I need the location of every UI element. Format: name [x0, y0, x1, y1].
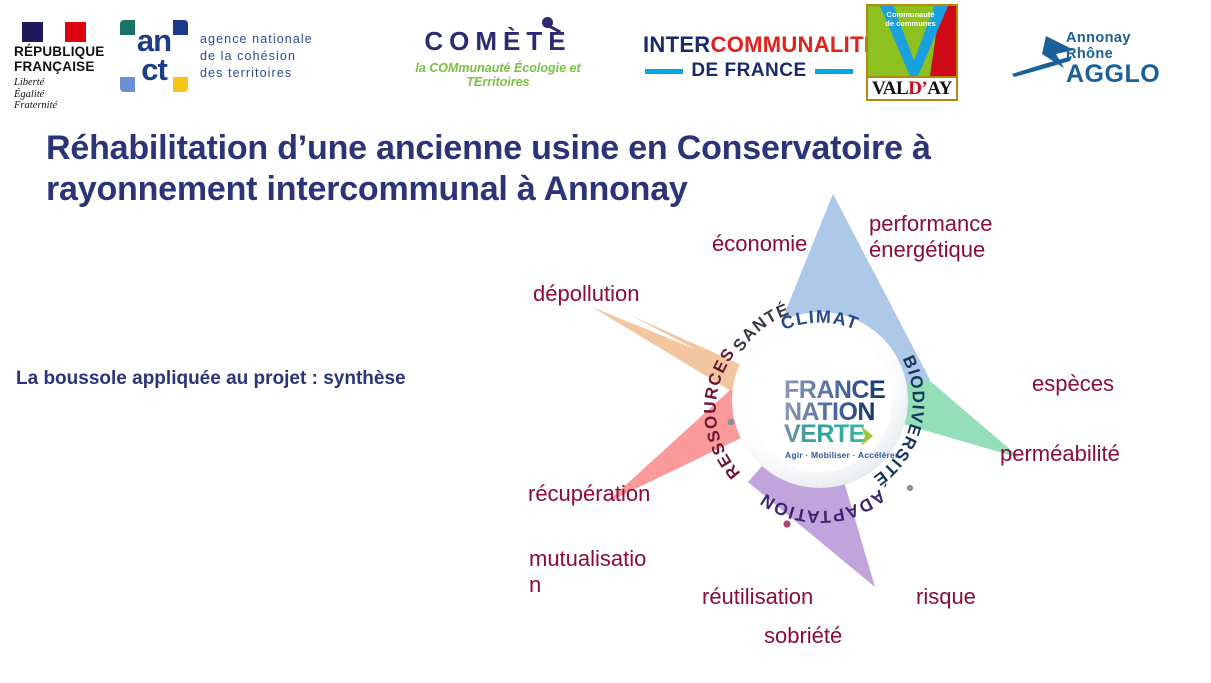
anct-mark-icon: an ct: [120, 20, 188, 92]
keyword-permeabilite: perméabilité: [1000, 441, 1120, 467]
logo-annonay-rhone-agglo: Annonay Rhône AGGLO: [1012, 26, 1172, 82]
keyword-sobriete: sobriété: [764, 623, 842, 649]
comete-wordmark-text: COMÈTE: [424, 26, 571, 56]
section-subtitle: La boussole appliquée au projet : synthè…: [16, 368, 536, 390]
icf-part1: INTER: [643, 32, 711, 57]
logo-val-day: Communauté de communes VALD’AY: [866, 4, 958, 101]
keyword-especes: espèces: [1032, 371, 1114, 397]
valday-emblem-icon: Communauté de communes: [868, 6, 956, 76]
fnv-line3: VERTE: [784, 420, 865, 448]
rf-line2: FRANÇAISE: [14, 60, 110, 75]
logo-comete: COMÈTE la COMmunauté Écologie et TErrito…: [385, 26, 611, 89]
anct-mark-line2: ct: [126, 54, 182, 85]
logo-bar: RÉPUBLIQUE FRANÇAISE Liberté Égalité Fra…: [0, 0, 1211, 108]
rf-motto-fraternite: Fraternité: [14, 100, 110, 112]
fnv-tagline: Agir · Mobiliser · Accélérer: [785, 450, 899, 460]
logo-intercommunalites-de-france: INTERCOMMUNALITÉS DE FRANCE: [643, 32, 855, 82]
slide-canvas: RÉPUBLIQUE FRANÇAISE Liberté Égalité Fra…: [0, 0, 1211, 683]
icf-line2: DE FRANCE: [691, 60, 806, 82]
icf-rule-left: [645, 69, 683, 74]
comete-wordmark: COMÈTE: [424, 26, 571, 57]
rf-motto-egalite: Égalité: [14, 89, 110, 101]
valday-top-line2: de communes: [885, 19, 935, 28]
page-title: Réhabilitation d’une ancienne usine en C…: [46, 128, 1126, 210]
valday-name1: VAL: [872, 78, 908, 100]
rf-motto-liberte: Liberté: [14, 77, 110, 89]
icf-rule-right: [815, 69, 853, 74]
keyword-performance-energetique: performance énergétique: [869, 211, 1029, 263]
valday-top-line1: Communauté: [887, 10, 935, 19]
keyword-reutilisation: réutilisation: [702, 584, 813, 610]
keyword-depollution: dépollution: [533, 281, 639, 307]
agglo-line2: AGGLO: [1066, 62, 1172, 87]
agglo-line1: Annonay Rhône: [1066, 30, 1172, 62]
logo-republique-francaise: RÉPUBLIQUE FRANÇAISE Liberté Égalité Fra…: [14, 22, 110, 112]
rf-line1: RÉPUBLIQUE: [14, 45, 110, 60]
keyword-economie: économie: [712, 231, 807, 257]
keyword-mutualisation: mutualisatio n: [529, 546, 681, 598]
anct-text-line1: agence nationale: [200, 31, 313, 48]
logo-anct: an ct agence nationale de la cohésion de…: [120, 20, 313, 92]
comet-icon: [542, 17, 553, 28]
keyword-recuperation: récupération: [528, 481, 650, 507]
keyword-risque: risque: [916, 584, 976, 610]
anct-text-line3: des territoires: [200, 65, 313, 82]
valday-name2: AY: [927, 78, 952, 100]
comete-tagline: la COMmunauté Écologie et TErritoires: [385, 61, 611, 89]
french-flag-icon: [22, 22, 86, 42]
valday-apostrophe: D’: [908, 78, 927, 100]
anct-text-line2: de la cohésion: [200, 48, 313, 65]
